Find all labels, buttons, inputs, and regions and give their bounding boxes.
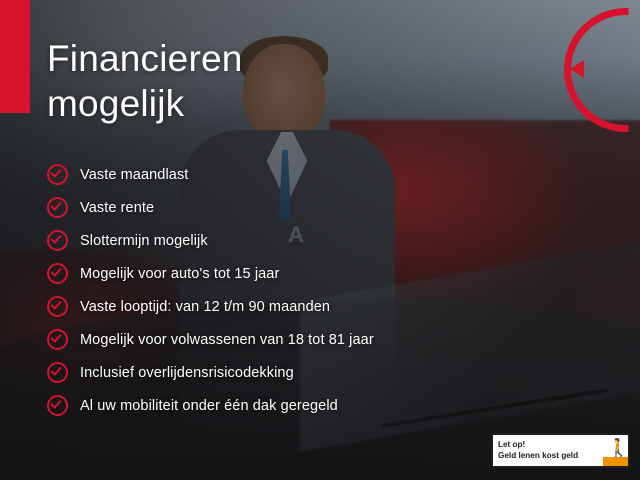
credit-warning-text: Let op! Geld lenen kost geld <box>493 440 603 461</box>
walking-person-glyph: 🚶 <box>607 439 629 457</box>
feature-label: Mogelijk voor volwassenen van 18 tot 81 … <box>80 332 374 348</box>
check-circle-icon <box>47 230 68 251</box>
feature-label: Inclusief overlijdensrisicodekking <box>80 365 294 381</box>
list-item: Slottermijn mogelijk <box>47 224 567 257</box>
check-circle-icon <box>47 263 68 284</box>
list-item: Mogelijk voor auto's tot 15 jaar <box>47 257 567 290</box>
feature-label: Vaste rente <box>80 200 154 216</box>
check-circle-icon <box>47 395 68 416</box>
check-circle-icon <box>47 197 68 218</box>
promo-banner: A Financieren mogelijk Vaste maandlast V… <box>0 0 640 480</box>
list-item: Vaste rente <box>47 191 567 224</box>
list-item: Mogelijk voor volwassenen van 18 tot 81 … <box>47 323 567 356</box>
list-item: Vaste maandlast <box>47 158 567 191</box>
list-item: Al uw mobiliteit onder één dak geregeld <box>47 389 567 422</box>
orange-band <box>603 457 628 466</box>
walking-person-icon: 🚶 <box>603 435 628 466</box>
red-square-accent <box>0 0 30 113</box>
feature-list: Vaste maandlast Vaste rente Slottermijn … <box>47 158 567 422</box>
check-circle-icon <box>47 329 68 350</box>
page-title: Financieren mogelijk <box>47 36 243 126</box>
list-item: Inclusief overlijdensrisicodekking <box>47 356 567 389</box>
red-arrow-head-icon <box>570 60 584 78</box>
feature-label: Slottermijn mogelijk <box>80 233 208 249</box>
feature-label: Mogelijk voor auto's tot 15 jaar <box>80 266 279 282</box>
feature-label: Vaste looptijd: van 12 t/m 90 maanden <box>80 299 330 315</box>
check-circle-icon <box>47 362 68 383</box>
list-item: Vaste looptijd: van 12 t/m 90 maanden <box>47 290 567 323</box>
credit-warning-badge: Let op! Geld lenen kost geld 🚶 <box>491 433 630 468</box>
check-circle-icon <box>47 296 68 317</box>
check-circle-icon <box>47 164 68 185</box>
feature-label: Al uw mobiliteit onder één dak geregeld <box>80 398 338 414</box>
feature-label: Vaste maandlast <box>80 167 188 183</box>
